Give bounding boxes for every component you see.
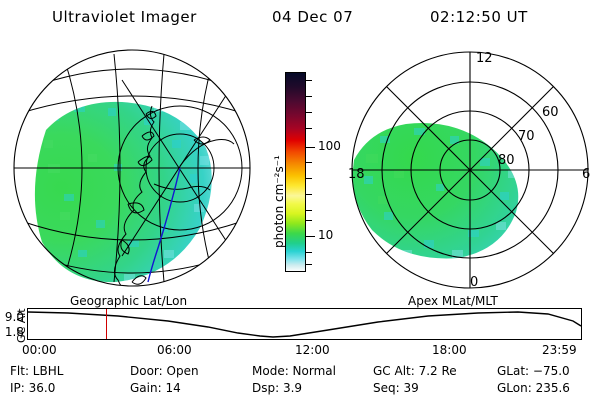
status-filter: Flt: LBHL [10, 364, 63, 378]
status-glat: GLat: −75.0 [497, 364, 570, 378]
status-gain: Gain: 14 [130, 381, 181, 395]
mlt-label-0: 0 [470, 275, 478, 290]
header-bar: Ultraviolet Imager 04 Dec 07 02:12:50 UT [0, 8, 600, 32]
orbit-xtick-2359: 23:59 [542, 343, 577, 357]
orbit-ytick-low: 1.8 [0, 325, 24, 339]
mlt-label-12: 12 [476, 51, 493, 66]
colorbar-gradient [285, 72, 306, 272]
colorbar-minor-tick [306, 220, 312, 221]
orbit-altitude-curve [28, 309, 581, 339]
colorbar-units-text: photon cm⁻²s⁻¹ [272, 155, 286, 248]
orbit-xtick-0000: 00:00 [22, 343, 57, 357]
colorbar-minor-tick [306, 210, 312, 211]
status-ip: IP: 36.0 [10, 381, 55, 395]
mlat-label-80: 80 [498, 153, 515, 168]
status-glon: GLon: 235.6 [497, 381, 570, 395]
colorbar-tick-label-10: 10 [318, 228, 333, 242]
colorbar-axis-label: photon cm⁻²s⁻¹ [258, 110, 276, 250]
colorbar-minor-tick [306, 252, 312, 253]
colorbar-minor-tick [306, 112, 312, 113]
orbit-altitude-panel[interactable] [27, 308, 582, 340]
status-mode: Mode: Normal [252, 364, 336, 378]
orbit-xtick-1200: 12:00 [295, 343, 330, 357]
observation-date: 04 Dec 07 [272, 8, 353, 26]
observation-time: 02:12:50 UT [430, 8, 528, 26]
status-gc-alt: GC Alt: 7.2 Re [373, 364, 457, 378]
colorbar-minor-tick [306, 162, 312, 163]
instrument-title: Ultraviolet Imager [52, 8, 197, 26]
status-seq: Seq: 39 [373, 381, 419, 395]
geographic-plot[interactable] [4, 44, 266, 292]
geographic-panel-title: Geographic Lat/Lon [70, 294, 187, 308]
colorbar-minor-tick [306, 178, 312, 179]
apex-panel-title: Apex MLat/MLT [408, 294, 498, 308]
colorbar-major-tick [306, 147, 315, 148]
orbit-xtick-0600: 06:00 [157, 343, 192, 357]
colorbar-minor-tick [306, 128, 312, 129]
colorbar-tick-label-100: 100 [318, 139, 341, 153]
colorbar-minor-tick [306, 264, 312, 265]
orbit-ytick-high: 9.0 [0, 310, 24, 324]
status-door: Door: Open [130, 364, 199, 378]
mlt-label-6: 6 [582, 167, 590, 182]
orbit-xtick-1800: 18:00 [432, 343, 467, 357]
colorbar-minor-tick [306, 96, 312, 97]
colorbar[interactable] [285, 72, 306, 272]
mlt-spokes [348, 48, 592, 292]
status-dsp: Dsp: 3.9 [252, 381, 302, 395]
mlat-label-60: 60 [542, 105, 559, 120]
apex-dial-plot[interactable]: 12 18 6 0 60 70 80 [340, 44, 600, 292]
colorbar-minor-tick [306, 80, 312, 81]
mlat-label-70: 70 [518, 129, 535, 144]
colorbar-major-tick [306, 236, 315, 237]
colorbar-minor-tick [306, 194, 312, 195]
time-cursor[interactable] [106, 309, 107, 339]
mlt-label-18: 18 [348, 167, 365, 182]
